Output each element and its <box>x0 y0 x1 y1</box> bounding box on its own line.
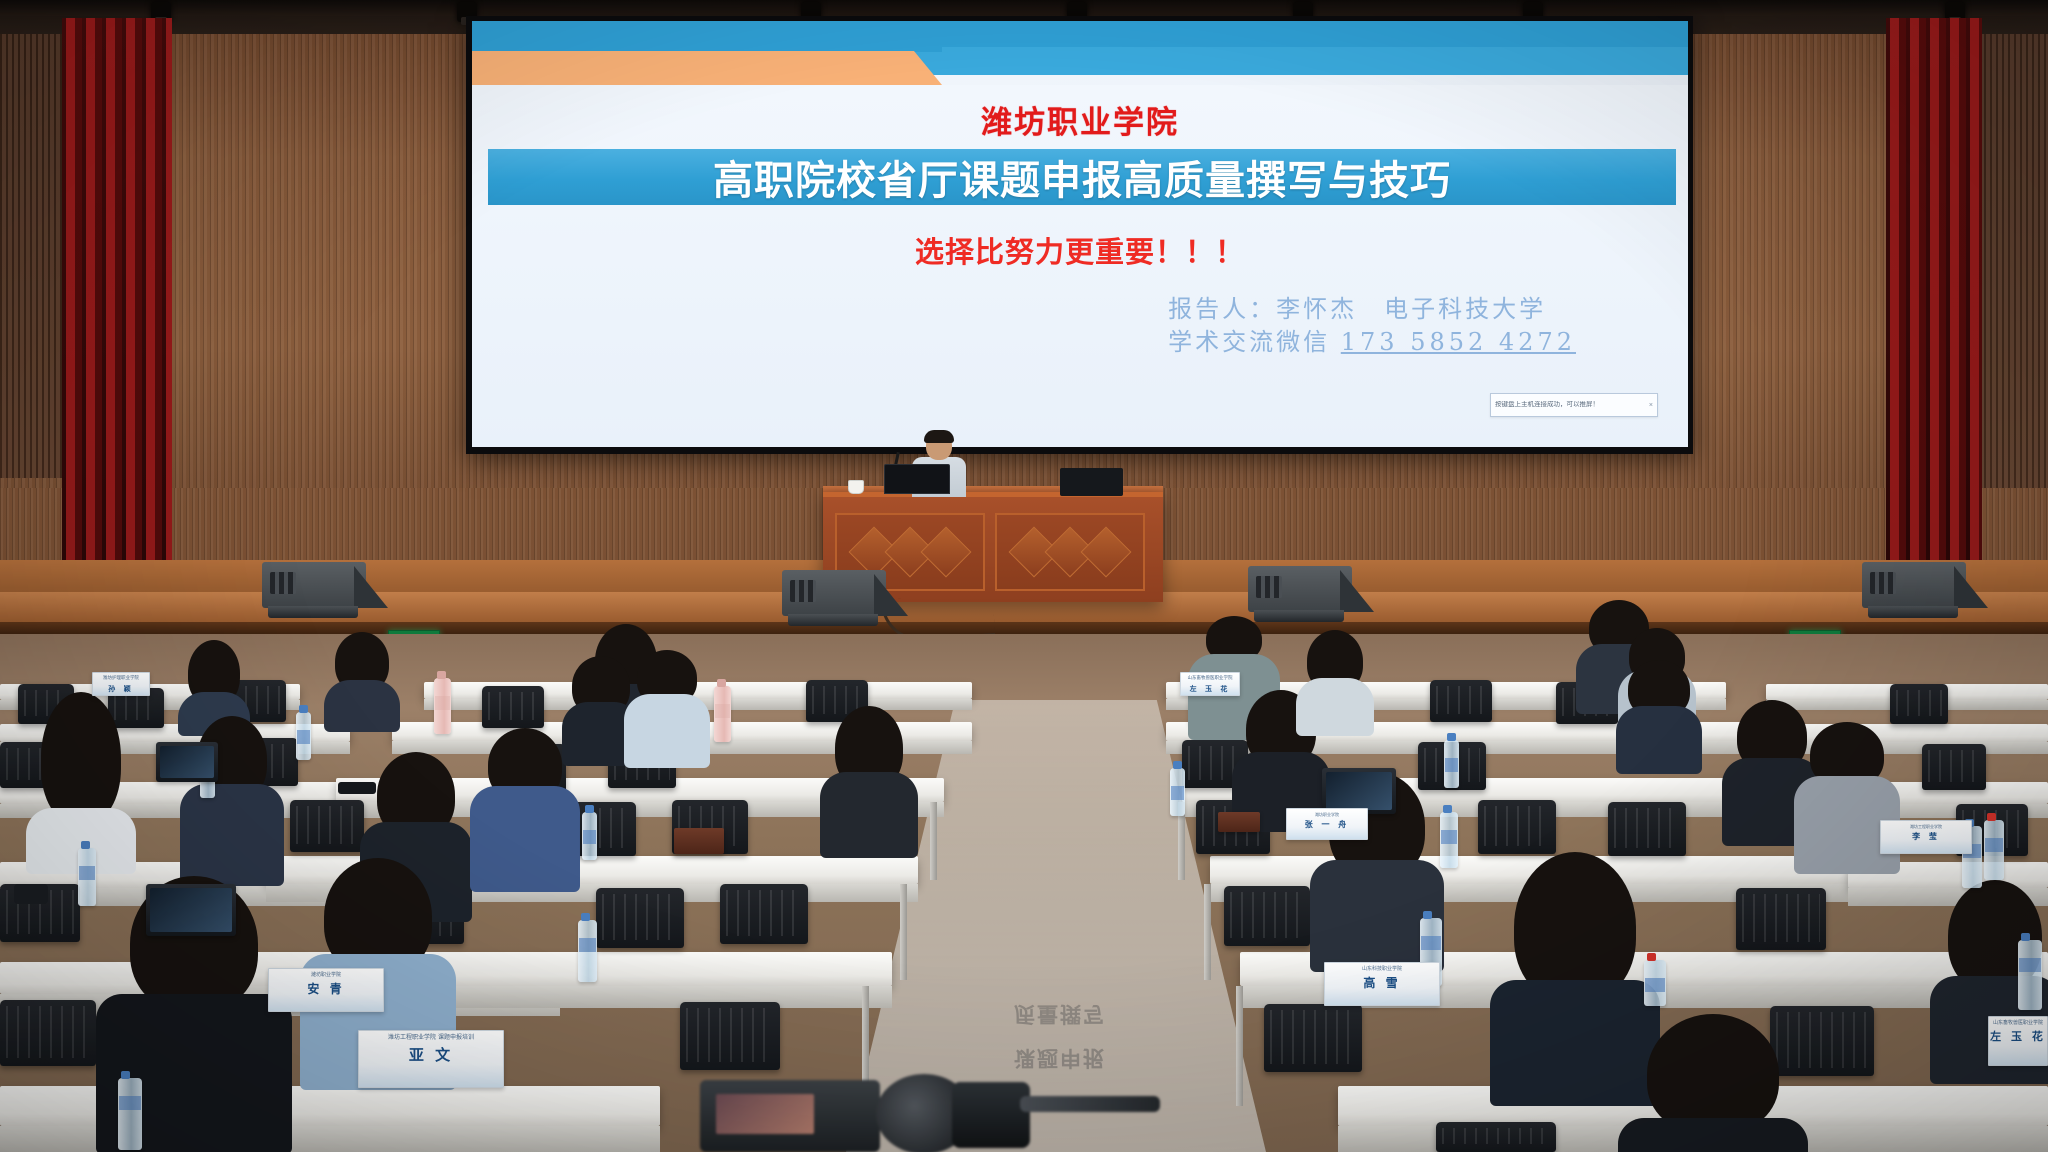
attendee-laptop <box>156 742 218 782</box>
camera-screen <box>716 1094 814 1134</box>
name-placard: 山东科技职业学院 高 雪 <box>1324 962 1440 1006</box>
name-placard: 潍坊工程职业学院 课题申报培训 亚 文 <box>358 1030 504 1088</box>
close-icon[interactable]: × <box>1649 402 1653 409</box>
led-screen[interactable]: 潍坊职业学院 高职院校省厅课题申报高质量撰写与技巧 选择比努力更重要！！！ 报告… <box>472 21 1688 447</box>
water-bottle <box>1170 768 1185 816</box>
slide-blue-wedge <box>472 21 942 52</box>
chair <box>1736 888 1826 950</box>
speaker-stand <box>268 606 358 618</box>
stage-edge <box>0 622 2048 634</box>
conference-hall-scene: 潍坊职业学院 高职院校省厅课题申报高质量撰写与技巧 选择比努力更重要！！！ 报告… <box>0 0 2048 1152</box>
placard-name: 安 青 <box>307 980 344 997</box>
placard-org: 山东畜牧兽医职业学院 <box>1993 1020 2043 1026</box>
audience-person <box>820 706 918 856</box>
notebook <box>674 828 724 854</box>
chair <box>680 1002 780 1070</box>
placard-org: 潍坊工程职业学院 <box>1910 824 1942 829</box>
placard-org: 潍坊工程职业学院 课题申报培训 <box>388 1034 474 1042</box>
audience-person <box>470 728 580 890</box>
chair <box>1922 744 1986 790</box>
table-leg <box>1236 986 1243 1106</box>
water-bottle <box>296 712 311 760</box>
name-placard: 山东畜牧兽医职业学院 左 玉 花 <box>1180 672 1240 696</box>
presentation-slide: 潍坊职业学院 高职院校省厅课题申报高质量撰写与技巧 选择比努力更重要！！！ 报告… <box>472 21 1688 447</box>
led-screen-bezel: 潍坊职业学院 高职院校省厅课题申报高质量撰写与技巧 选择比努力更重要！！！ 报告… <box>466 16 1693 454</box>
lighting-truss <box>0 0 2048 16</box>
placard-name: 孙 颖 <box>108 684 133 694</box>
speaker-stand <box>788 614 878 626</box>
name-placard: 潍坊护理职业学院 孙 颖 <box>92 672 150 696</box>
slide-organization: 潍坊职业学院 <box>472 97 1688 142</box>
slide-wechat-number: 173 5852 4272 <box>1341 328 1576 356</box>
name-placard: 山东畜牧兽医职业学院 左 玉 花 <box>1988 1016 2048 1066</box>
wall-panel-right <box>1978 18 2048 488</box>
water-bottle <box>1444 740 1459 788</box>
audience-person <box>324 632 400 732</box>
chair <box>1224 886 1310 946</box>
slide-presenter-info: 报告人：李怀杰 电子科技大学 学术交流微信 173 5852 4272 <box>1168 293 1576 359</box>
speaker-stand <box>1868 606 1958 618</box>
audience-person <box>1618 1014 1808 1152</box>
slide-orange-wedge <box>472 51 942 85</box>
placard-org: 潍坊护理职业学院 <box>103 676 139 682</box>
audience-person <box>1616 660 1702 772</box>
water-bottle <box>118 1078 142 1150</box>
name-placard: 潍坊职业学院 张 一 舟 <box>1286 808 1368 840</box>
screen-connection-toast[interactable]: 按键盘上主机连接成功，可以推屏！ × <box>1490 393 1658 417</box>
chair <box>1608 802 1686 856</box>
chair <box>1430 680 1492 722</box>
slide-main-title: 高职院校省厅课题申报高质量撰写与技巧 <box>713 148 1451 206</box>
video-camera <box>690 1066 1160 1152</box>
chair <box>482 686 544 728</box>
water-bottle <box>582 812 597 860</box>
floor-reflection-text: 课题申报 质量撰写 <box>930 820 1190 1080</box>
thermos-bottle <box>714 686 731 742</box>
audience-person <box>1296 630 1374 734</box>
placard-org: 山东科技职业学院 <box>1362 966 1402 972</box>
stage-monitor-speaker <box>1248 566 1352 612</box>
teacup <box>848 480 864 494</box>
stage-curtain-right <box>1886 18 1982 598</box>
name-placard: 潍坊职业学院 安 青 <box>268 968 384 1012</box>
chair <box>1478 800 1556 854</box>
placard-org: 山东畜牧兽医职业学院 <box>1188 676 1233 682</box>
smartphone <box>14 884 48 904</box>
chair <box>1890 684 1948 724</box>
stage-monitor-speaker <box>782 570 886 616</box>
audience-person <box>624 650 710 768</box>
lectern-laptop <box>884 464 950 494</box>
water-bottle <box>1984 820 2004 880</box>
placard-name: 左 玉 花 <box>1990 1028 2046 1044</box>
stage-monitor-speaker <box>262 562 366 608</box>
placard-org: 潍坊职业学院 <box>311 972 341 978</box>
chair <box>290 800 364 852</box>
water-bottle <box>2018 940 2042 1010</box>
placard-name: 张 一 舟 <box>1305 819 1350 830</box>
table-leg <box>930 802 937 880</box>
placard-name: 高 雪 <box>1363 974 1400 991</box>
slide-subtitle: 选择比努力更重要！！！ <box>472 229 1688 271</box>
slide-presenter-line: 报告人：李怀杰 电子科技大学 <box>1168 293 1576 326</box>
stage-confidence-monitor <box>1060 468 1123 496</box>
slide-title-band: 高职院校省厅课题申报高质量撰写与技巧 <box>488 149 1676 205</box>
placard-name: 李 莹 <box>1912 831 1940 842</box>
name-placard: 潍坊工程职业学院 李 莹 <box>1880 820 1972 854</box>
chair <box>596 888 684 948</box>
chair <box>0 1000 96 1066</box>
slide-wechat-label: 学术交流微信 <box>1168 328 1330 356</box>
placard-name: 亚 文 <box>409 1044 453 1065</box>
table-leg <box>1204 884 1211 980</box>
chair <box>1264 1004 1362 1072</box>
chair <box>1436 1122 1556 1152</box>
wall-panel-left <box>0 18 66 478</box>
attendee-laptop <box>146 884 236 936</box>
table-leg <box>900 884 907 980</box>
water-bottle <box>578 920 597 982</box>
remote-control <box>338 782 376 794</box>
water-bottle <box>1440 812 1458 868</box>
toast-message: 按键盘上主机连接成功，可以推屏！ <box>1495 401 1646 408</box>
lectern-panel <box>995 513 1145 591</box>
notebook <box>1218 812 1260 832</box>
placard-org: 潍坊职业学院 <box>1315 812 1339 817</box>
stage-curtain-left <box>62 18 172 598</box>
thermos-bottle <box>434 678 451 734</box>
stage-monitor-speaker <box>1862 562 1966 608</box>
water-bottle <box>1644 960 1666 1006</box>
slide-wechat-line: 学术交流微信 173 5852 4272 <box>1168 326 1576 359</box>
chair <box>720 884 808 944</box>
water-bottle <box>78 848 96 906</box>
placard-name: 左 玉 花 <box>1190 684 1231 694</box>
reflection-line-2: 质量撰写 <box>930 992 1190 1036</box>
